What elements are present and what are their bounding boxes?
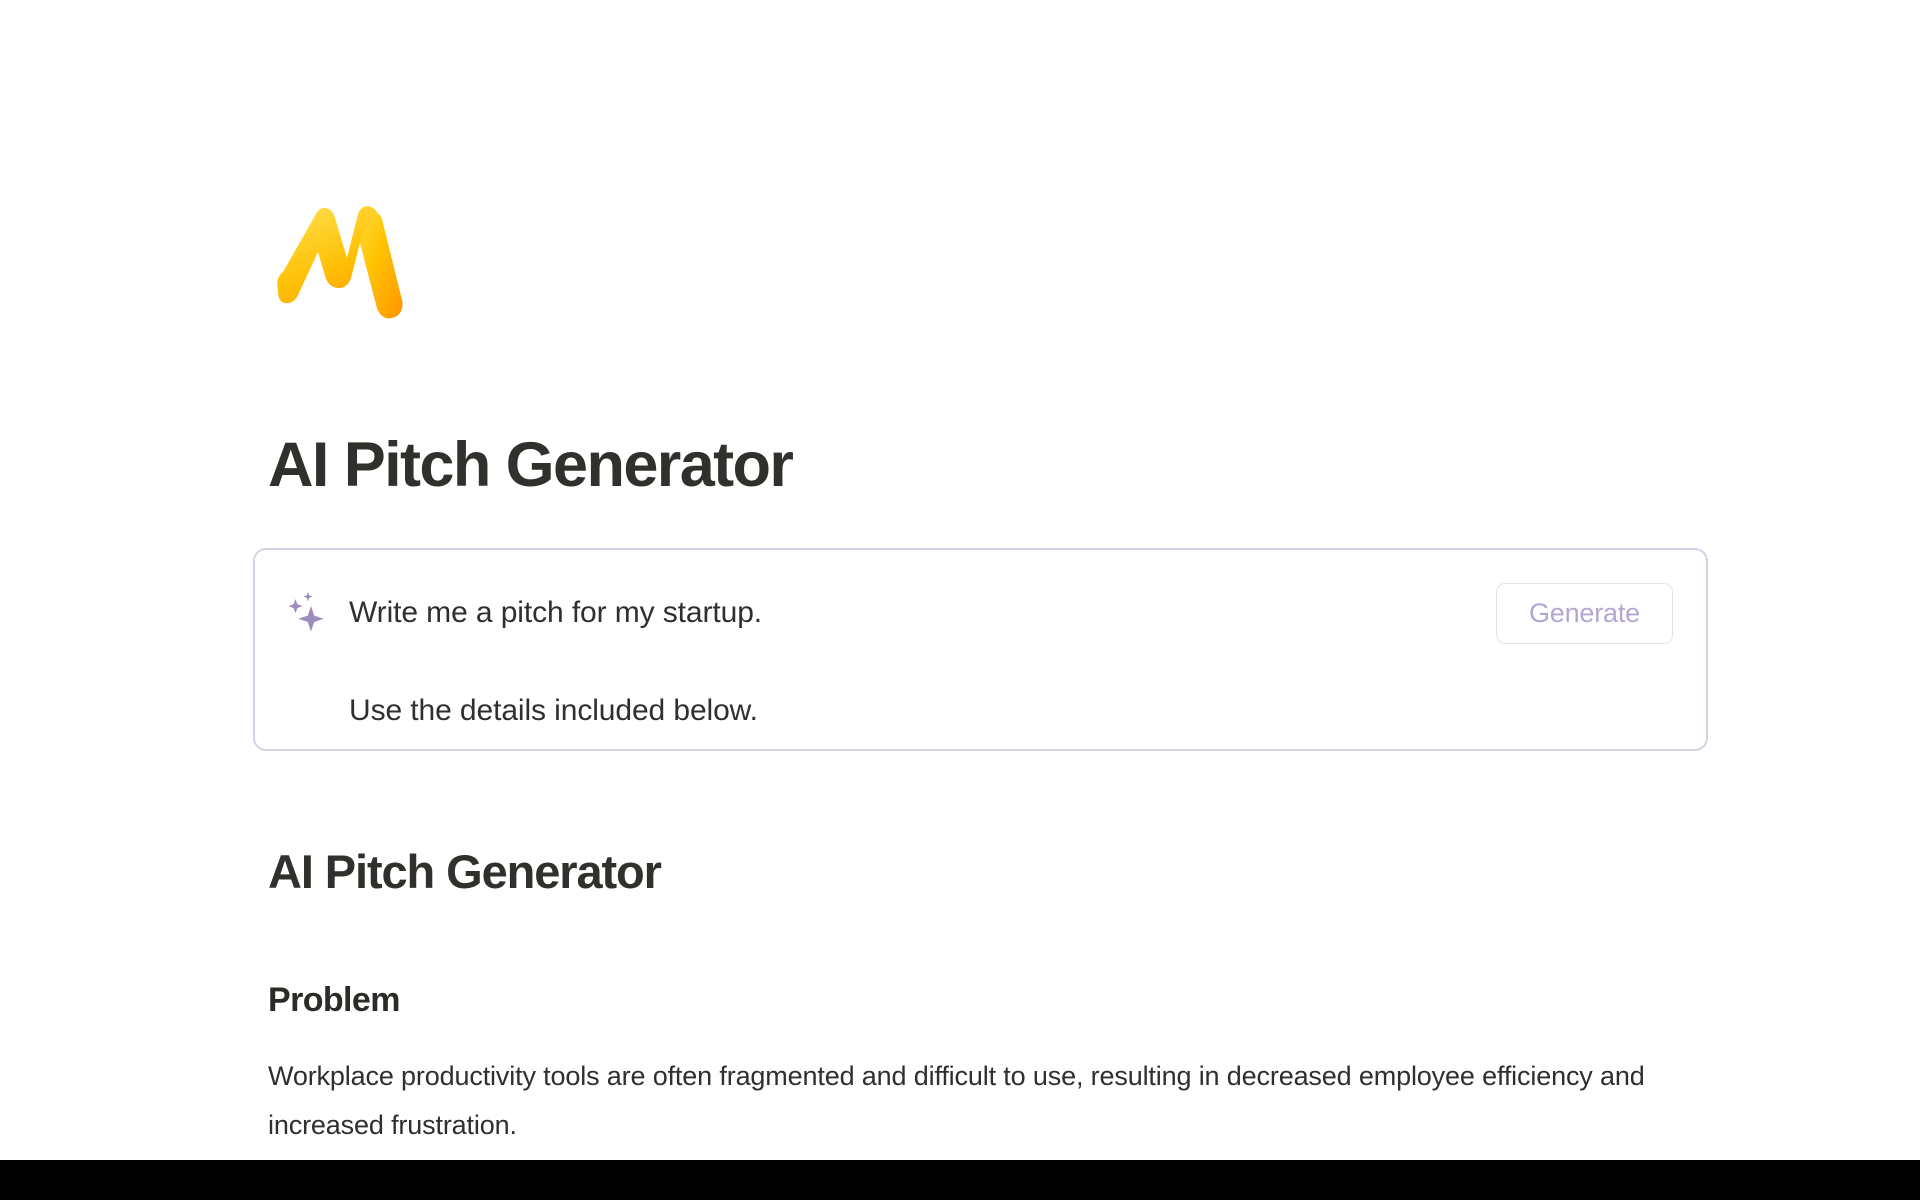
mountain-m-logo-icon bbox=[272, 196, 420, 328]
content-column: AI Pitch Generator Write me a pitch for … bbox=[268, 0, 1692, 1160]
sparkle-icon bbox=[281, 588, 329, 636]
section-heading-problem: Problem bbox=[268, 978, 400, 1022]
prompt-card: Write me a pitch for my startup. Use the… bbox=[253, 548, 1708, 751]
generate-button[interactable]: Generate bbox=[1496, 583, 1673, 644]
prompt-row: Write me a pitch for my startup. Use the… bbox=[255, 550, 1706, 749]
section-body-problem: Workplace productivity tools are often f… bbox=[268, 1052, 1658, 1150]
prompt-text-line-2[interactable]: Use the details included below. bbox=[349, 690, 758, 732]
bottom-letterbox-bar bbox=[0, 1160, 1920, 1200]
document-title: AI Pitch Generator bbox=[268, 843, 661, 901]
prompt-text-line-1[interactable]: Write me a pitch for my startup. bbox=[349, 592, 762, 634]
app-page: AI Pitch Generator Write me a pitch for … bbox=[0, 0, 1920, 1200]
page-title: AI Pitch Generator bbox=[268, 428, 792, 502]
